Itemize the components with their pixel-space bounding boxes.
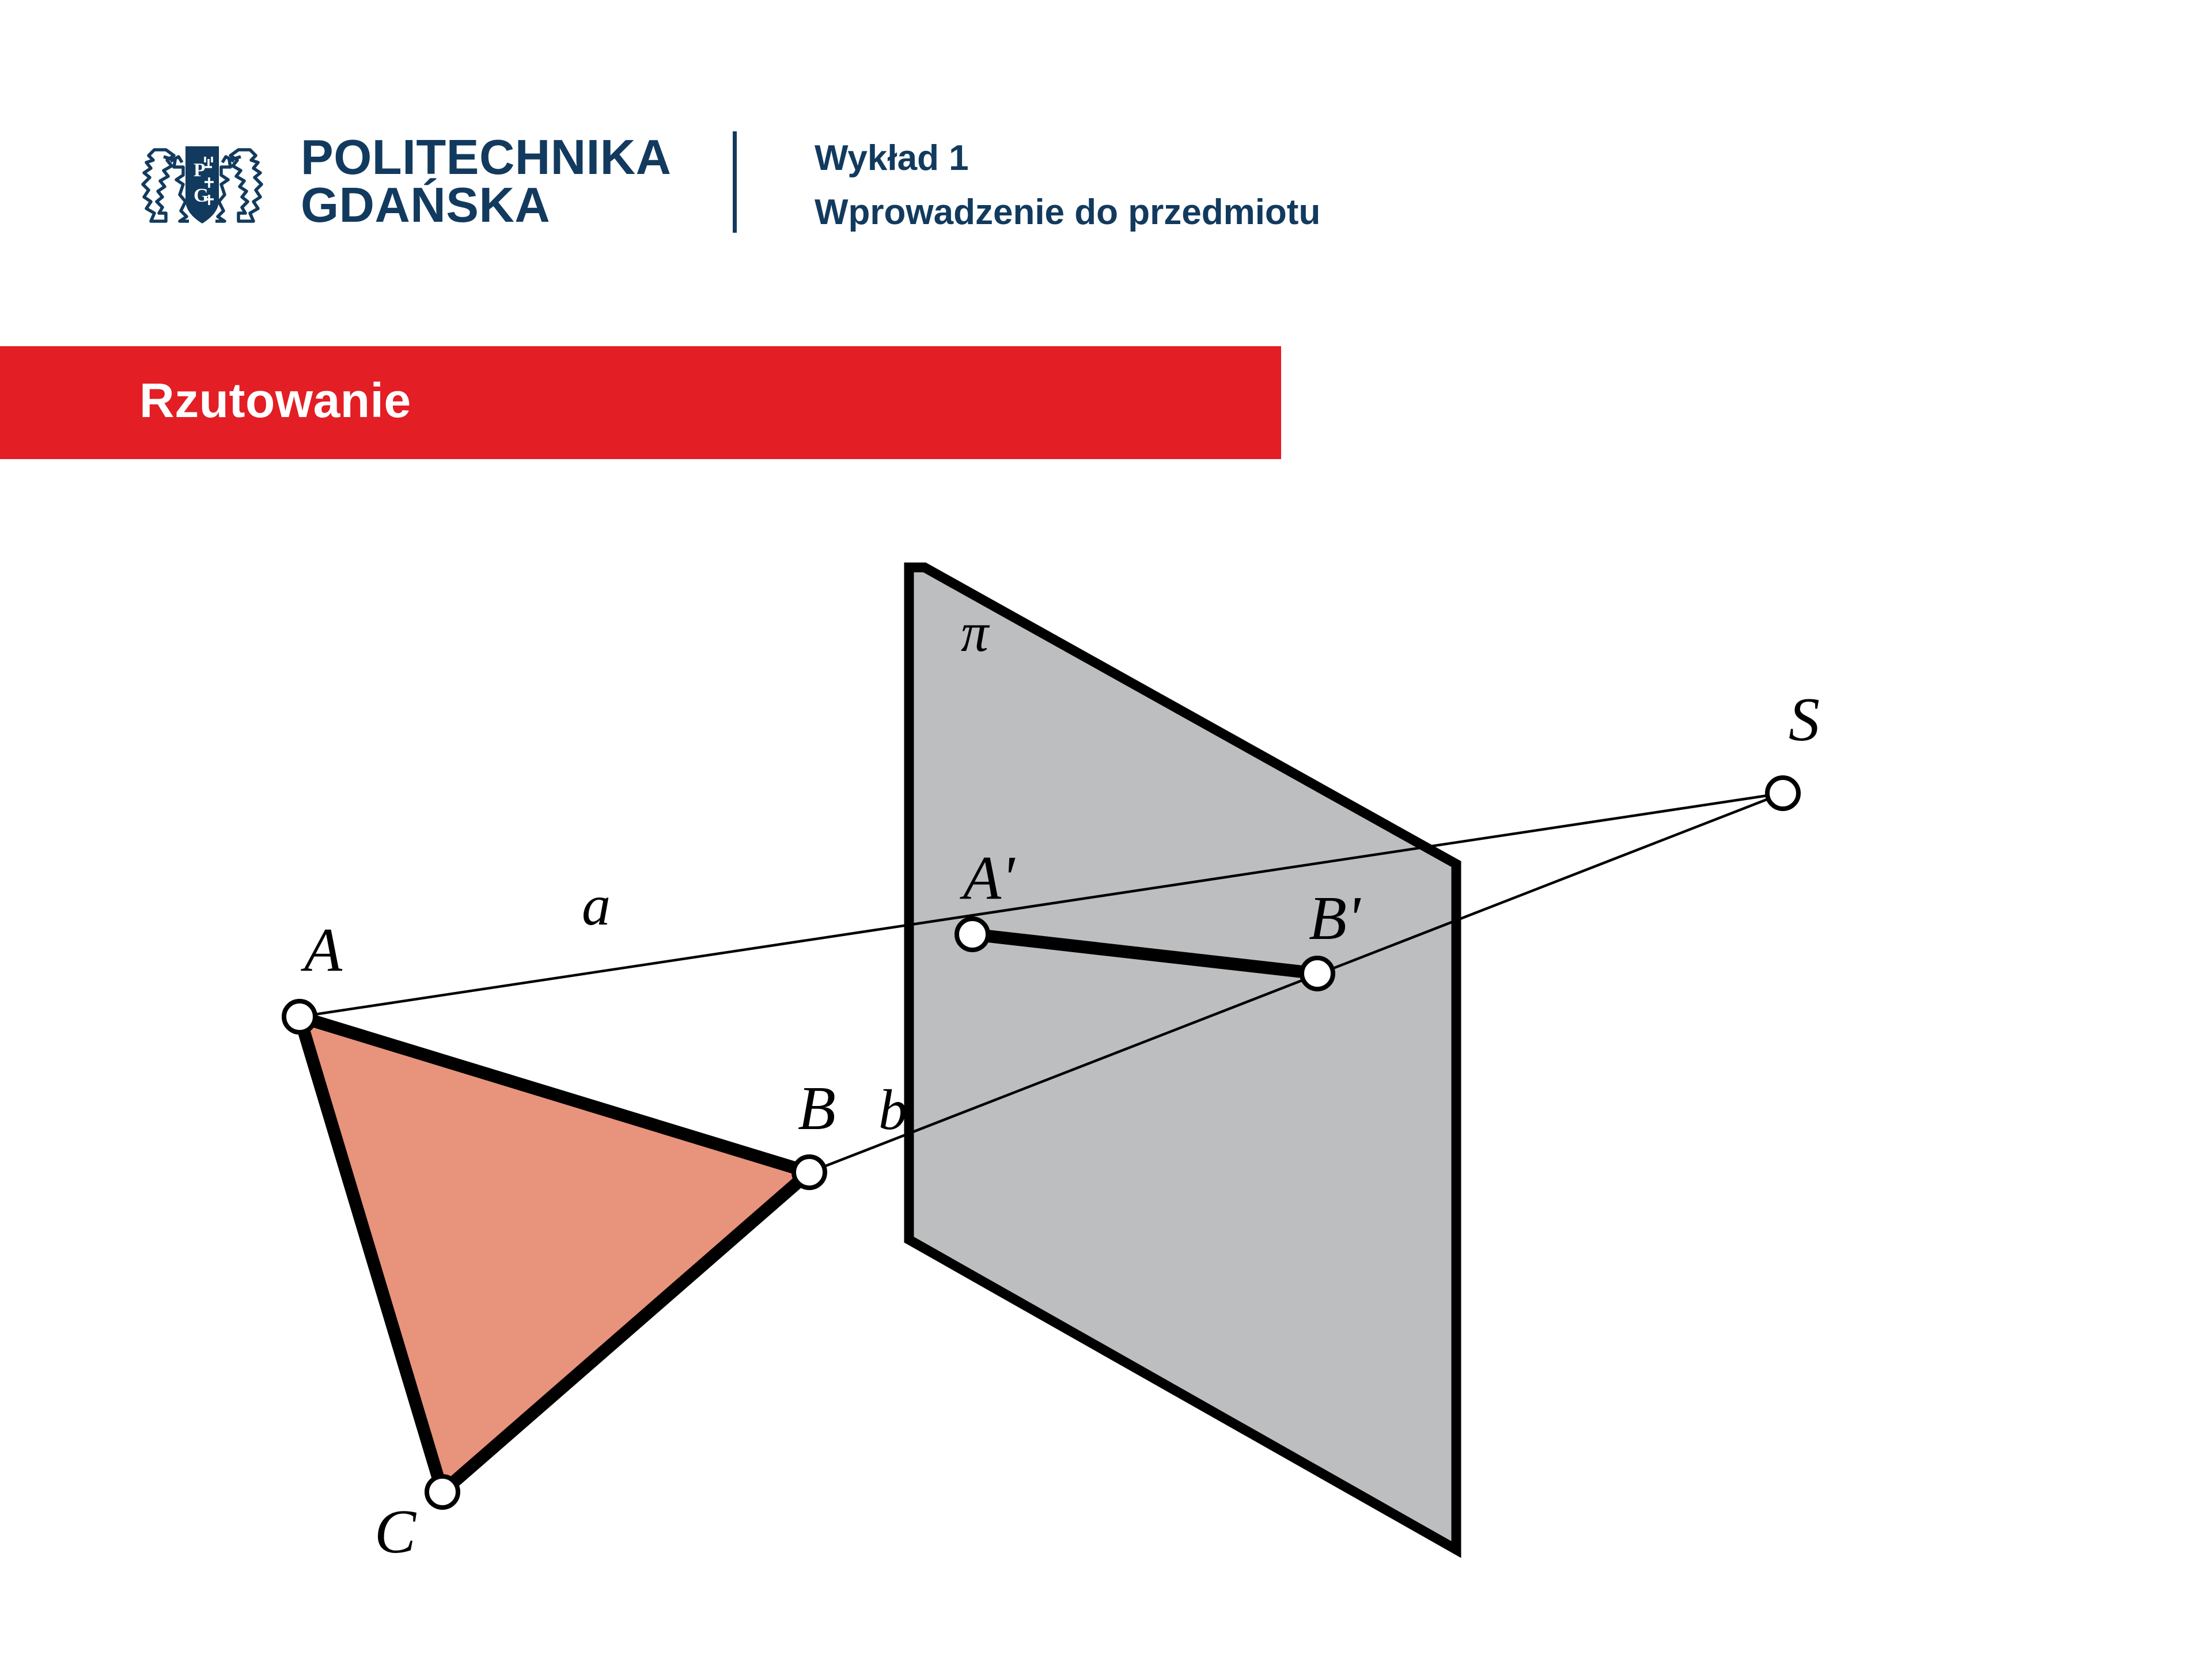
svg-text:G: G (194, 185, 209, 206)
label-vertex-a: A (301, 916, 343, 984)
vertex-marker-a-prime (957, 919, 988, 950)
vertex-marker-a (284, 1001, 315, 1032)
triangle-abc (300, 1017, 809, 1492)
section-title-bar: Rzutowanie (0, 346, 1281, 459)
label-center-s: S (1789, 685, 1820, 754)
label-image-a-prime: A' (960, 844, 1016, 912)
lecture-subtitle: Wprowadzenie do przedmiotu (815, 185, 1320, 240)
projection-plane-pi (909, 567, 1456, 1550)
label-plane-pi: π (961, 601, 990, 663)
vertex-marker-c (427, 1476, 458, 1508)
pg-crest-icon: P G (134, 127, 271, 236)
label-vertex-b: B (798, 1074, 836, 1143)
lecture-number: Wykład 1 (815, 131, 1320, 185)
projection-diagram: π S A B C A' B' a b (0, 478, 2212, 1659)
label-image-b-prime: B' (1309, 884, 1361, 953)
label-ray-a: a (582, 873, 611, 937)
vertex-marker-b-prime (1302, 958, 1333, 989)
university-logo-block: P G POLITECHNIKA GDAŃSKA (134, 127, 672, 236)
diagram-canvas: π S A B C A' B' a b (0, 478, 2212, 1659)
label-vertex-c: C (374, 1498, 417, 1566)
header-divider (733, 131, 737, 233)
label-ray-b: b (878, 1078, 907, 1142)
vertex-marker-s (1767, 778, 1798, 809)
vertex-marker-b (794, 1157, 825, 1188)
university-name: POLITECHNIKA GDAŃSKA (301, 134, 672, 230)
page-title: Rzutowanie (139, 373, 411, 429)
slide-header: P G POLITECHNIKA GDAŃSKA Wykład 1 Wprowa… (0, 0, 2212, 300)
lecture-info: Wykład 1 Wprowadzenie do przedmiotu (815, 131, 1320, 240)
svg-text:P: P (194, 160, 206, 181)
